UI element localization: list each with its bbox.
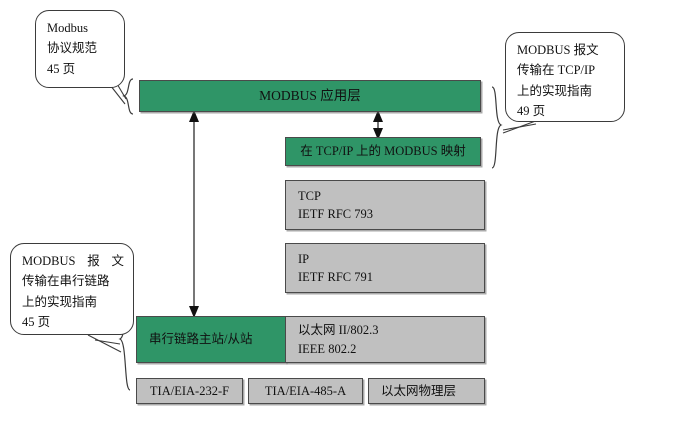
callout-serial-implementation-guide: MODBUS 报 文 传输在串行链路 上的实现指南 45 页	[10, 243, 134, 335]
diagram-canvas: MODBUS 应用层 在 TCP/IP 上的 MODBUS 映射 TCP IET…	[0, 0, 687, 421]
layer-box-ethernet-physical: 以太网物理层	[368, 378, 485, 404]
layer-box-ip: IP IETF RFC 791	[285, 243, 485, 293]
layer-box-tia-eia-232f: TIA/EIA-232-F	[136, 378, 243, 404]
arrow-app-to-serial	[189, 110, 199, 318]
layer-box-serial-link: 串行链路主站/从站	[136, 316, 286, 363]
brace-application-left	[124, 79, 133, 114]
arrow-app-to-mapping	[373, 110, 383, 140]
layer-box-application: MODBUS 应用层	[139, 80, 481, 112]
callout-serial-line1: MODBUS 报 文	[22, 251, 124, 271]
layer-box-tcpip-mapping: 在 TCP/IP 上的 MODBUS 映射	[285, 137, 481, 166]
callout-tcpip-implementation-guide: MODBUS 报文 传输在 TCP/IP 上的实现指南 49 页	[505, 32, 625, 122]
callout-modbus-spec: Modbus 协议规范 45 页	[35, 10, 125, 88]
layer-box-ethernet: 以太网 II/802.3 IEEE 802.2	[285, 316, 485, 363]
callout-tail-serial	[88, 335, 121, 352]
brace-tcpip-right	[492, 87, 501, 168]
layer-box-tia-eia-485a: TIA/EIA-485-A	[248, 378, 363, 404]
layer-box-tcp: TCP IETF RFC 793	[285, 180, 485, 230]
